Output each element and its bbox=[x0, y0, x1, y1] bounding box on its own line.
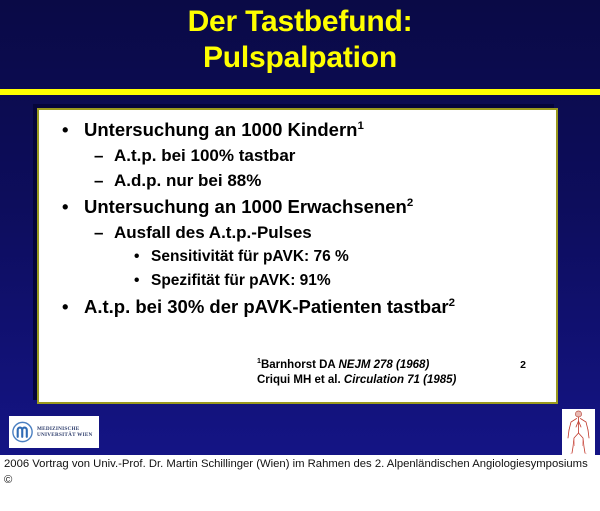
bullet-marker-icon: • bbox=[134, 245, 151, 269]
bullet-text: A.t.p. bei 30% der pAVK-Patienten tastba… bbox=[84, 293, 556, 320]
bullet-item: –A.t.p. bei 100% tastbar bbox=[39, 143, 556, 168]
bullet-marker-icon: – bbox=[94, 220, 114, 245]
bullet-marker-icon: • bbox=[134, 269, 151, 293]
slide-title: Der Tastbefund: Pulspalpation bbox=[0, 4, 600, 76]
citation-authors: Criqui MH et al. bbox=[257, 374, 344, 386]
bullet-text: A.t.p. bei 100% tastbar bbox=[114, 143, 556, 168]
bullet-text: Ausfall des A.t.p.-Pulses bbox=[114, 220, 556, 245]
bullet-text-main: Ausfall des A.t.p.-Pulses bbox=[114, 223, 312, 242]
arterial-system-illustration bbox=[562, 409, 595, 455]
bullet-item: •Untersuchung an 1000 Kindern1 bbox=[39, 116, 556, 143]
bullet-text-main: Untersuchung an 1000 Kindern bbox=[84, 119, 357, 140]
image-caption: 2006 Vortrag von Univ.-Prof. Dr. Martin … bbox=[0, 455, 600, 511]
bullet-text-main: A.d.p. nur bei 88% bbox=[114, 171, 261, 190]
content-panel: •Untersuchung an 1000 Kindern1–A.t.p. be… bbox=[37, 108, 558, 404]
citation-block: 1Barnhorst DA NEJM 278 (1968)Criqui MH e… bbox=[39, 358, 556, 388]
bullet-item: –Ausfall des A.t.p.-Pulses bbox=[39, 220, 556, 245]
slide-number: 2 bbox=[520, 359, 526, 371]
bullet-marker-icon: – bbox=[94, 143, 114, 168]
slide-canvas: Der Tastbefund: Pulspalpation •Untersuch… bbox=[0, 0, 600, 455]
bullet-text-main: A.t.p. bei 30% der pAVK-Patienten tastba… bbox=[84, 296, 449, 317]
bullet-text: Spezifität für pAVK: 91% bbox=[151, 269, 556, 293]
bullet-list: •Untersuchung an 1000 Kindern1–A.t.p. be… bbox=[39, 116, 556, 320]
title-divider-rule bbox=[0, 89, 600, 95]
bullet-marker-icon: – bbox=[94, 168, 114, 193]
bullet-marker-icon: • bbox=[62, 116, 84, 143]
bullet-footnote-ref: 1 bbox=[357, 120, 363, 132]
bullet-item: •Spezifität für pAVK: 91% bbox=[39, 269, 556, 293]
citation-line: 1Barnhorst DA NEJM 278 (1968) bbox=[39, 358, 556, 373]
bullet-text-main: Spezifität für pAVK: 91% bbox=[151, 272, 331, 289]
bullet-text: A.d.p. nur bei 88% bbox=[114, 168, 556, 193]
bullet-footnote-ref: 2 bbox=[407, 197, 413, 209]
title-line-1: Der Tastbefund: bbox=[188, 5, 413, 38]
citation-line: Criqui MH et al. Circulation 71 (1985) bbox=[39, 373, 556, 388]
bullet-text-main: Untersuchung an 1000 Erwachsenen bbox=[84, 196, 407, 217]
title-line-2: Pulspalpation bbox=[0, 40, 600, 76]
bullet-text-main: Sensitivität für pAVK: 76 % bbox=[151, 248, 349, 265]
bullet-item: –A.d.p. nur bei 88% bbox=[39, 168, 556, 193]
university-logo: MEDIZINISCHE UNIVERSITÄT WIEN bbox=[9, 416, 99, 448]
university-logo-text: MEDIZINISCHE UNIVERSITÄT WIEN bbox=[37, 426, 96, 439]
bullet-text-main: A.t.p. bei 100% tastbar bbox=[114, 146, 295, 165]
citation-authors: Barnhorst DA bbox=[261, 359, 339, 371]
bullet-item: •Sensitivität für pAVK: 76 % bbox=[39, 245, 556, 269]
med-uni-wien-mark-icon bbox=[12, 421, 33, 443]
bullet-marker-icon: • bbox=[62, 293, 84, 320]
bullet-text: Sensitivität für pAVK: 76 % bbox=[151, 245, 556, 269]
bullet-text: Untersuchung an 1000 Kindern1 bbox=[84, 116, 556, 143]
citation-source: NEJM 278 (1968) bbox=[339, 359, 430, 371]
bullet-marker-icon: • bbox=[62, 193, 84, 220]
bullet-item: •Untersuchung an 1000 Erwachsenen2 bbox=[39, 193, 556, 220]
bullet-item: •A.t.p. bei 30% der pAVK-Patienten tastb… bbox=[39, 293, 556, 320]
bullet-text: Untersuchung an 1000 Erwachsenen2 bbox=[84, 193, 556, 220]
bullet-footnote-ref: 2 bbox=[449, 297, 455, 309]
citation-source: Circulation 71 (1985) bbox=[344, 374, 456, 386]
